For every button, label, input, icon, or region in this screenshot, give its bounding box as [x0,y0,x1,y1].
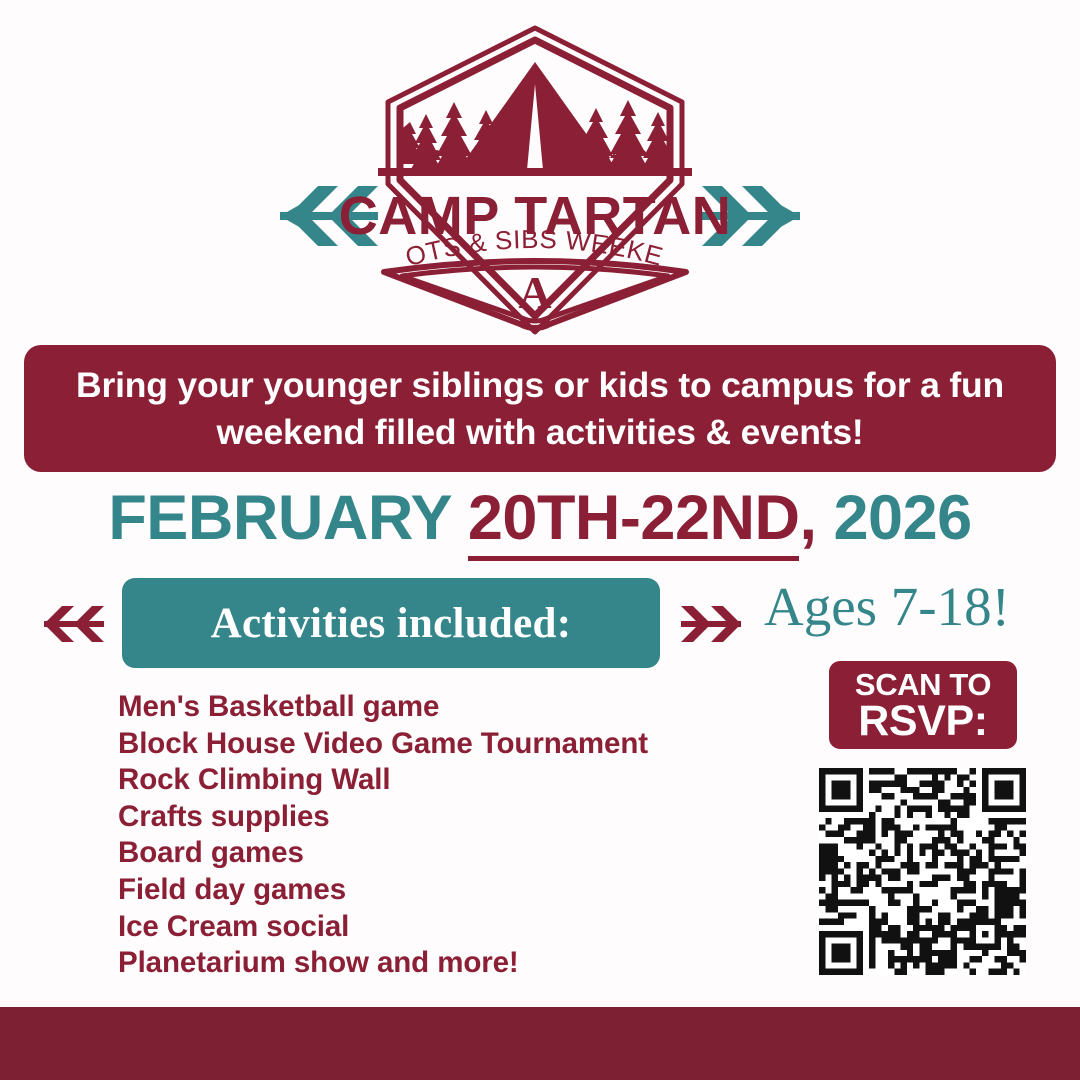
date-days: 20TH-22ND [468,483,800,561]
chevron-double-left-icon [44,600,106,648]
activities-list: Men's Basketball game Block House Video … [118,689,738,982]
rsvp-line-1: SCAN TO [855,669,991,701]
list-item: Planetarium show and more! [118,945,738,982]
rsvp-line-2: RSVP: [858,700,987,743]
date-comma: , [799,483,816,553]
intro-banner-text: Bring your younger siblings or kids to c… [50,362,1030,456]
chevron-double-right-icon [679,600,741,648]
ages-label: Ages 7-18! [764,575,1010,638]
qr-code-svg[interactable] [819,768,1026,975]
ground-line [378,168,692,176]
event-date-line: FEBRUARY 20TH-22ND, 2026 [0,482,1080,554]
tent-icon [458,62,612,170]
activities-header-row: Activities included: Ages 7-18! [0,578,1080,674]
list-item: Men's Basketball game [118,689,738,726]
list-item: Field day games [118,872,738,909]
bottom-bar [0,1007,1080,1080]
activities-included-box: Activities included: [122,578,660,668]
intro-banner: Bring your younger siblings or kids to c… [24,345,1056,472]
activities-included-label: Activities included: [211,599,572,648]
date-year: 2026 [817,483,972,553]
scan-to-rsvp-badge: SCAN TO RSVP: [829,661,1017,749]
list-item: Block House Video Game Tournament [118,726,738,763]
date-month: FEBRUARY [108,483,468,553]
list-item: Ice Cream social [118,909,738,946]
list-item: Crafts supplies [118,799,738,836]
camp-tartan-logo-svg: CAMP TARTAN SCOTS & SIBS WEEKEND A [260,18,820,338]
letter-a-monogram-icon: A [518,267,551,318]
qr-code[interactable] [819,768,1026,975]
list-item: Board games [118,835,738,872]
logo-block: CAMP TARTAN SCOTS & SIBS WEEKEND A [0,18,1080,338]
list-item: Rock Climbing Wall [118,762,738,799]
